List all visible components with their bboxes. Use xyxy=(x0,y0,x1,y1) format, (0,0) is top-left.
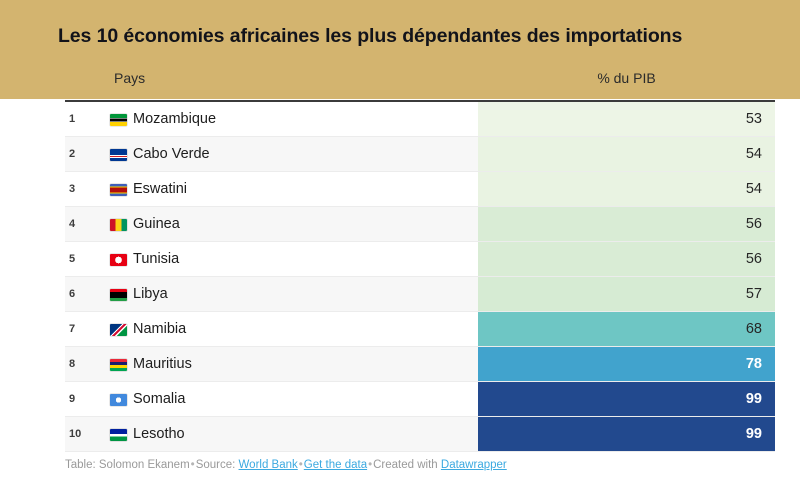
country-flag-cell xyxy=(110,207,127,241)
value-cell: 99 xyxy=(478,417,775,451)
country-flag-cell xyxy=(110,102,127,136)
value-heat-fill xyxy=(478,382,775,416)
table-row[interactable]: 2Cabo Verde54 xyxy=(65,137,775,172)
column-header-country: Pays xyxy=(114,70,145,86)
flag-tunisia-icon xyxy=(110,254,127,266)
page-title: Les 10 économies africaines les plus dép… xyxy=(58,25,682,48)
source-label: Source: xyxy=(196,459,236,471)
country-name: Eswatini xyxy=(133,172,187,206)
value-label: 56 xyxy=(746,242,762,276)
value-cell: 56 xyxy=(478,207,775,241)
table-row[interactable]: 5Tunisia56 xyxy=(65,242,775,277)
flag-somalia-icon xyxy=(110,394,127,406)
country-name: Libya xyxy=(133,277,168,311)
value-heat-fill xyxy=(478,277,775,311)
value-label: 53 xyxy=(746,102,762,136)
value-heat-fill xyxy=(478,172,775,206)
value-cell: 57 xyxy=(478,277,775,311)
value-label: 56 xyxy=(746,207,762,241)
country-flag-cell xyxy=(110,242,127,276)
value-label: 54 xyxy=(746,172,762,206)
country-flag-cell xyxy=(110,137,127,171)
country-name: Somalia xyxy=(133,382,185,416)
country-flag-cell xyxy=(110,382,127,416)
country-name: Mozambique xyxy=(133,102,216,136)
value-label: 68 xyxy=(746,312,762,346)
country-flag-cell xyxy=(110,417,127,451)
country-flag-cell xyxy=(110,347,127,381)
flag-libya-icon xyxy=(110,289,127,301)
table-row[interactable]: 10Lesotho99 xyxy=(65,417,775,452)
table-row[interactable]: 8Mauritius78 xyxy=(65,347,775,382)
value-heat-fill xyxy=(478,137,775,171)
flag-lesotho-icon xyxy=(110,429,127,441)
row-rank: 3 xyxy=(69,172,97,206)
country-name: Lesotho xyxy=(133,417,185,451)
flag-cabo-verde-icon xyxy=(110,149,127,161)
flag-eswatini-icon xyxy=(110,184,127,196)
value-cell: 53 xyxy=(478,102,775,136)
credit-author: Table: Solomon Ekanem xyxy=(65,459,190,471)
country-flag-cell xyxy=(110,277,127,311)
value-cell: 68 xyxy=(478,312,775,346)
value-heat-fill xyxy=(478,102,775,136)
value-cell: 54 xyxy=(478,137,775,171)
value-label: 78 xyxy=(746,347,762,381)
row-rank: 8 xyxy=(69,347,97,381)
table-row[interactable]: 6Libya57 xyxy=(65,277,775,312)
value-cell: 78 xyxy=(478,347,775,381)
flag-mauritius-icon xyxy=(110,359,127,371)
value-cell: 56 xyxy=(478,242,775,276)
row-rank: 2 xyxy=(69,137,97,171)
country-name: Tunisia xyxy=(133,242,179,276)
row-rank: 5 xyxy=(69,242,97,276)
row-rank: 9 xyxy=(69,382,97,416)
column-header-value: % du PIB xyxy=(478,70,775,86)
source-link[interactable]: World Bank xyxy=(239,459,298,471)
country-name: Namibia xyxy=(133,312,186,346)
datawrapper-link[interactable]: Datawrapper xyxy=(441,459,507,471)
value-heat-fill xyxy=(478,242,775,276)
value-label: 54 xyxy=(746,137,762,171)
row-rank: 6 xyxy=(69,277,97,311)
value-heat-fill xyxy=(478,417,775,451)
value-heat-fill xyxy=(478,312,775,346)
value-label: 99 xyxy=(746,382,762,416)
table-row[interactable]: 7Namibia68 xyxy=(65,312,775,347)
value-heat-fill xyxy=(478,207,775,241)
table-row[interactable]: 3Eswatini54 xyxy=(65,172,775,207)
created-with-label: Created with xyxy=(373,459,438,471)
flag-namibia-icon xyxy=(110,324,127,336)
footer-credit: Table: Solomon Ekanem•Source: World Bank… xyxy=(65,459,507,471)
value-label: 57 xyxy=(746,277,762,311)
value-heat-fill xyxy=(478,347,775,381)
row-rank: 1 xyxy=(69,102,97,136)
row-rank: 4 xyxy=(69,207,97,241)
row-rank: 7 xyxy=(69,312,97,346)
table-row[interactable]: 4Guinea56 xyxy=(65,207,775,242)
table-row[interactable]: 1Mozambique53 xyxy=(65,102,775,137)
country-flag-cell xyxy=(110,172,127,206)
flag-guinea-icon xyxy=(110,219,127,231)
country-name: Guinea xyxy=(133,207,180,241)
country-name: Cabo Verde xyxy=(133,137,210,171)
value-cell: 54 xyxy=(478,172,775,206)
row-rank: 10 xyxy=(69,417,97,451)
table-row[interactable]: 9Somalia99 xyxy=(65,382,775,417)
value-cell: 99 xyxy=(478,382,775,416)
value-label: 99 xyxy=(746,417,762,451)
country-name: Mauritius xyxy=(133,347,192,381)
flag-mozambique-icon xyxy=(110,114,127,126)
data-table: 1Mozambique532Cabo Verde543Eswatini544Gu… xyxy=(65,100,775,452)
country-flag-cell xyxy=(110,312,127,346)
get-the-data-link[interactable]: Get the data xyxy=(304,459,367,471)
